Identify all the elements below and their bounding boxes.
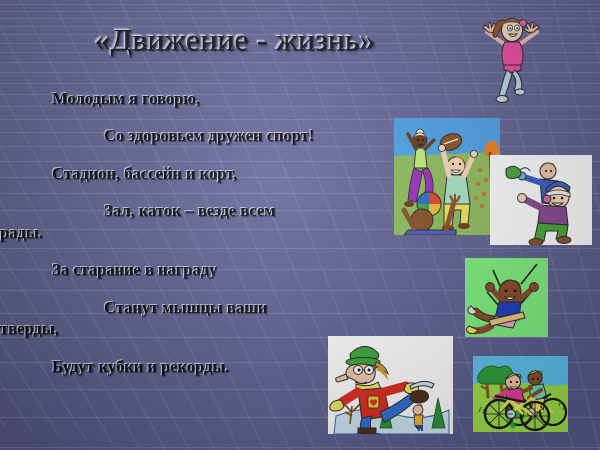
- poem-line-text: Станут мышцы ваши: [104, 298, 267, 317]
- poem-line-text: Зал, каток – везде всем: [104, 201, 275, 220]
- poem-line-text: За старание в награду: [52, 260, 217, 279]
- poem-line-text: Стадион, бассейн и корт,: [52, 164, 237, 183]
- poem-line: Молодым я говорю,: [0, 88, 370, 109]
- poem-line: Со здоровьем дружен спорт!: [0, 125, 370, 146]
- poem-line: Стадион, бассейн и корт,: [0, 163, 370, 184]
- presentation-slide: «Движение - жизнь» Молодым я говорю, Со …: [0, 0, 600, 450]
- poem-line: Станут мышцы ваши тверды,: [0, 297, 370, 340]
- poem-line-text: Будут кубки и рекорды.: [52, 357, 229, 376]
- poem-line-continuation: тверды,: [0, 318, 370, 339]
- poem-line: Зал, каток – везде всем рады.: [0, 200, 370, 243]
- poem-line-text: Со здоровьем дружен спорт!: [104, 126, 314, 145]
- cheerleader-girl-clipart: [477, 6, 545, 106]
- swing-clipart: [465, 258, 548, 337]
- ice-skater-clipart: [328, 336, 453, 434]
- cyclists-clipart: [473, 356, 568, 432]
- poem-line-text: Молодым я говорю,: [52, 89, 200, 108]
- poem-line: Будут кубки и рекорды.: [0, 356, 370, 377]
- slide-title: «Движение - жизнь»: [0, 22, 470, 58]
- grid-line-horizontal: [0, 4, 600, 5]
- poem-line: За старание в награду: [0, 259, 370, 280]
- ball-game-clipart: [394, 118, 500, 235]
- winter-kids-clipart: [490, 155, 592, 245]
- grid-line-horizontal: [0, 447, 600, 448]
- poem-line-continuation: рады.: [0, 222, 370, 243]
- poem-text-block: Молодым я говорю, Со здоровьем дружен сп…: [0, 88, 370, 393]
